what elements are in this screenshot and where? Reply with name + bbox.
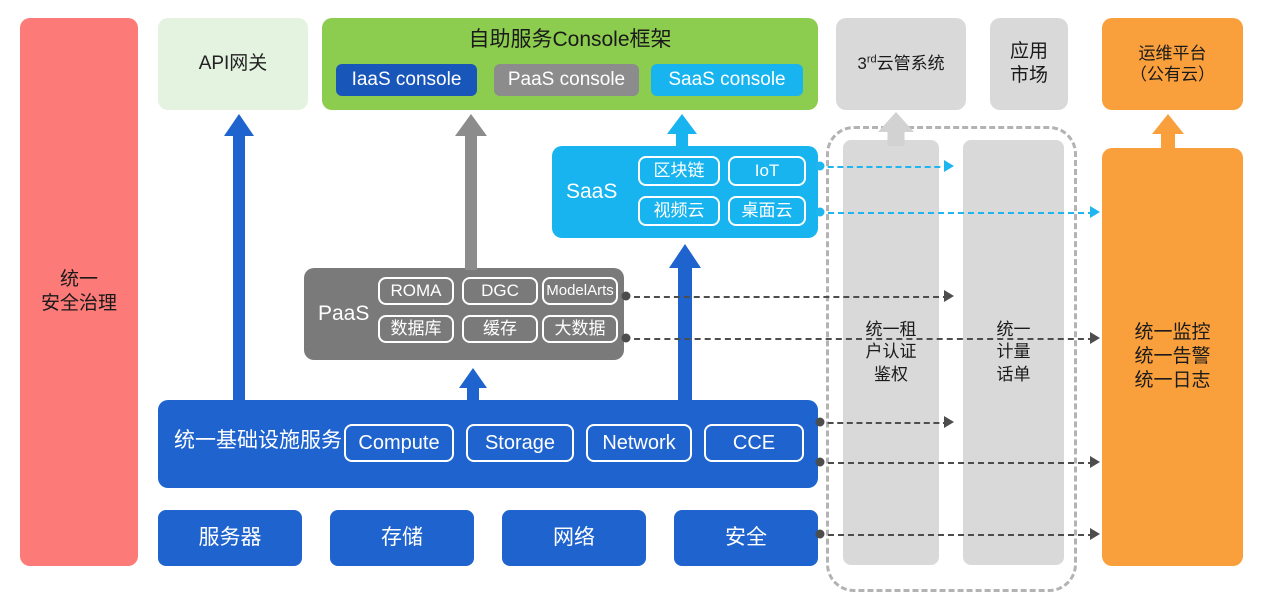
infra-to-api-gateway-arrow [224, 114, 254, 402]
resources-ops-dashed-line [818, 534, 1094, 536]
infra-ops-dot [816, 458, 825, 467]
saas-to-console-arrow [667, 114, 697, 148]
infra-tag-cce[interactable]: CCE [704, 424, 804, 462]
infra-tag-network[interactable]: Network [586, 424, 692, 462]
paas-auth-arrowhead [944, 290, 954, 302]
third-party-prefix: 3 [857, 54, 866, 73]
resources-ops-dot [816, 530, 825, 539]
infra-to-paas-arrow [459, 368, 487, 402]
third-party-superscript: rd [867, 54, 877, 66]
infra-tag-compute[interactable]: Compute [344, 424, 454, 462]
console-framework-box: 自助服务Console框架 IaaS console PaaS console … [322, 18, 818, 110]
infra-ops-dashed-line [818, 462, 1094, 464]
paas-tag-cache[interactable]: 缓存 [462, 315, 538, 343]
paas-tag-modelarts[interactable]: ModelArts [542, 277, 618, 305]
unified-infrastructure-bar: 统一基础设施服务 Compute Storage Network CCE [158, 400, 818, 488]
infra-ops-arrowhead [1090, 456, 1100, 468]
infra-auth-dot [816, 418, 825, 427]
paas-to-console-arrow [455, 114, 487, 270]
ops-monitoring-column: 统一监控 统一告警 统一日志 [1102, 148, 1243, 566]
unified-tenant-auth-column: 统一租 户认证 鉴权 [843, 140, 939, 565]
paas-tag-dgc[interactable]: DGC [462, 277, 538, 305]
iaas-console-chip[interactable]: IaaS console [336, 64, 477, 96]
saas-tag-video-cloud[interactable]: 视频云 [638, 196, 720, 226]
paas-auth-dashed-line [624, 296, 949, 298]
unified-billing-column: 统一 计量 话单 [963, 140, 1064, 565]
paas-label: PaaS [318, 301, 369, 327]
saas-tag-blockchain[interactable]: 区块链 [638, 156, 720, 186]
console-framework-title: 自助服务Console框架 [322, 27, 818, 53]
third-party-cloud-label: 3rd云管系统 [857, 53, 944, 74]
paas-tag-bigdata[interactable]: 大数据 [542, 315, 618, 343]
third-party-suffix: 云管系统 [877, 54, 945, 73]
paas-ops-dashed-line [624, 338, 1094, 340]
paas-ops-arrowhead [1090, 332, 1100, 344]
paas-console-chip[interactable]: PaaS console [494, 64, 639, 96]
saas-block: SaaS 区块链 IoT 视频云 桌面云 [552, 146, 818, 238]
infra-auth-dashed-line [818, 422, 949, 424]
saas-auth-dot [816, 162, 825, 171]
resource-box-security: 安全 [674, 510, 818, 566]
architecture-diagram: 统一 安全治理 API网关 自助服务Console框架 IaaS console… [0, 0, 1265, 605]
resource-box-server: 服务器 [158, 510, 302, 566]
saas-ops-dot [816, 208, 825, 217]
paas-tag-database[interactable]: 数据库 [378, 315, 454, 343]
resources-ops-arrowhead [1090, 528, 1100, 540]
infra-auth-arrowhead [944, 416, 954, 428]
saas-tag-iot[interactable]: IoT [728, 156, 806, 186]
saas-label: SaaS [566, 179, 617, 205]
app-market-box: 应用 市场 [990, 18, 1068, 110]
paas-auth-dot [622, 292, 631, 301]
infra-to-saas-arrow [669, 244, 701, 402]
saas-console-chip[interactable]: SaaS console [651, 64, 803, 96]
paas-tag-roma[interactable]: ROMA [378, 277, 454, 305]
api-gateway-box: API网关 [158, 18, 308, 110]
saas-auth-arrowhead [944, 160, 954, 172]
saas-ops-dashed-line [818, 212, 1094, 214]
resource-box-storage: 存储 [330, 510, 474, 566]
paas-block: PaaS ROMA DGC ModelArts 数据库 缓存 大数据 [304, 268, 624, 360]
saas-ops-arrowhead [1090, 206, 1100, 218]
resource-box-network: 网络 [502, 510, 646, 566]
paas-ops-dot [622, 334, 631, 343]
security-governance-column: 统一 安全治理 [20, 18, 138, 566]
ops-platform-box: 运维平台 （公有云） [1102, 18, 1243, 110]
infra-tag-storage[interactable]: Storage [466, 424, 574, 462]
saas-auth-dashed-line [818, 166, 950, 168]
third-party-cloud-arrow [878, 112, 914, 146]
saas-tag-desktop-cloud[interactable]: 桌面云 [728, 196, 806, 226]
third-party-cloud-mgmt-box: 3rd云管系统 [836, 18, 966, 110]
unified-infrastructure-label: 统一基础设施服务 [174, 428, 342, 454]
ops-platform-arrow [1152, 114, 1184, 150]
